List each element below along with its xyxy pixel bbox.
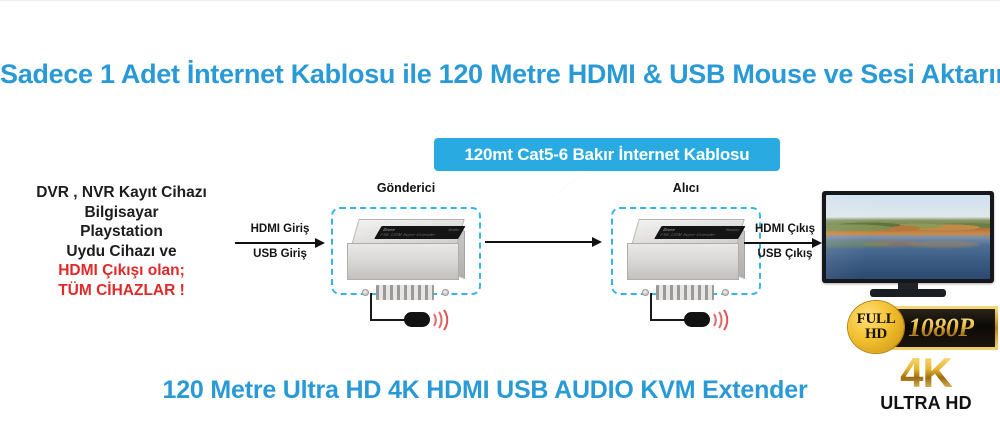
infographic-canvas: Sadece 1 Adet İnternet Kablosu ile 120 M… <box>0 0 1000 438</box>
usb-output-label: USB Çıkış <box>743 248 827 260</box>
receiver-top-panel: Drore FSK 120M Super Extender Receiver <box>631 219 744 245</box>
transmitter-model: FSK 120M Super Extender <box>379 232 437 237</box>
output-arrow-head <box>812 238 822 248</box>
mouse-icon <box>404 312 430 327</box>
wireless-signal-icon <box>430 305 460 335</box>
full-hd-1080p-badge: 1080P FULL HD <box>848 301 996 351</box>
resolution-label: 1080P <box>908 313 973 343</box>
source-highlight-1: HDMI Çıkışı olan; <box>14 261 229 281</box>
hdmi-input-label: HDMI Giriş <box>238 223 322 235</box>
transmitter-label: Gönderici <box>331 181 481 195</box>
television-display <box>822 191 994 299</box>
screw-icon <box>362 289 369 296</box>
input-arrow-head <box>315 238 325 248</box>
source-highlight-2: TÜM CİHAZLAR ! <box>14 281 229 301</box>
cable-callout: 120mt Cat5-6 Bakır İnternet Kablosu <box>434 138 780 171</box>
source-device-list: DVR , NVR Kayıt Cihazı Bilgisayar Playst… <box>14 183 229 300</box>
screw-icon <box>642 289 649 296</box>
receiver-role-text: Receiver <box>725 228 741 232</box>
page-title: Sadece 1 Adet İnternet Kablosu ile 120 M… <box>0 59 1000 90</box>
transmitter-front-strip: Drore FSK 120M Super Extender Sender <box>374 226 465 239</box>
product-title: 120 Metre Ultra HD 4K HDMI USB AUDIO KVM… <box>0 376 985 405</box>
hdmi-output-label: HDMI Çıkış <box>743 223 827 235</box>
hd-label: HD <box>865 327 887 342</box>
tv-stand-base <box>870 289 946 297</box>
receiver-wireless-mouse <box>650 293 760 348</box>
callout-tail <box>498 169 590 235</box>
transmitter-top-panel: Drore FSK 120M Super Extender Sender <box>351 219 464 245</box>
receiver-label: Alıcı <box>611 181 761 195</box>
receiver-device: Drore FSK 120M Super Extender Receiver <box>627 219 745 281</box>
mouse-cable-vertical <box>650 293 652 321</box>
transmitter-front-face <box>347 243 459 280</box>
cable-callout-label: 120mt Cat5-6 Bakır İnternet Kablosu <box>465 145 750 165</box>
full-hd-emblem: FULL HD <box>848 301 904 353</box>
input-arrow-line <box>235 242 317 244</box>
mouse-cable-horizontal <box>650 319 686 321</box>
cable-arrow-line <box>485 241 595 243</box>
transmitter-device: Drore FSK 120M Super Extender Sender <box>347 219 465 281</box>
source-line-2: Bilgisayar <box>14 203 229 223</box>
transmitter-wireless-mouse <box>370 293 480 348</box>
mouse-cable-horizontal <box>370 319 406 321</box>
source-line-1: DVR , NVR Kayıt Cihazı <box>14 183 229 203</box>
receiver-model: FSK 120M Super Extender <box>659 232 717 237</box>
source-line-3: Playstation <box>14 222 229 242</box>
mouse-cable-vertical <box>370 293 372 321</box>
source-line-4: Uydu Cihazı ve <box>14 242 229 262</box>
transmitter-role-text: Sender <box>447 228 460 232</box>
tv-bezel <box>822 191 994 283</box>
wireless-signal-icon <box>710 305 740 335</box>
tv-screen <box>826 195 990 279</box>
full-label: FULL <box>857 312 896 327</box>
receiver-front-strip: Drore FSK 120M Super Extender Receiver <box>654 226 745 239</box>
output-arrow-line <box>744 242 814 244</box>
usb-input-label: USB Giriş <box>238 248 322 260</box>
receiver-front-face <box>627 243 739 280</box>
mouse-icon <box>684 312 710 327</box>
screen-glare <box>826 195 915 279</box>
cable-arrow-head <box>592 237 602 247</box>
